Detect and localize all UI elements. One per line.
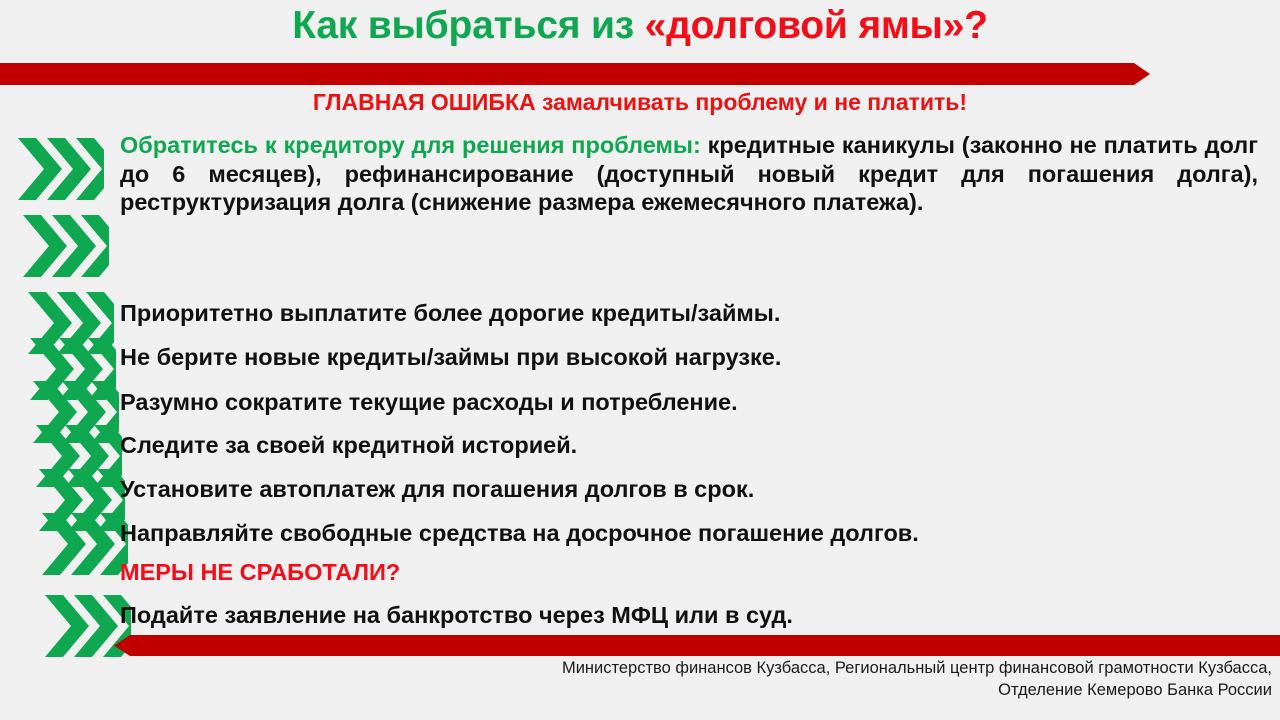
list-item-text: Установите автоплатеж для погашения долг… — [120, 475, 1260, 504]
list-item-text: Не берите новые кредиты/займы при высоко… — [120, 343, 1260, 372]
footer-line-1: Министерство финансов Кузбасса, Регионал… — [312, 657, 1272, 679]
bottom-arrow-banner — [114, 635, 1280, 656]
page-title-green: Как выбраться из — [292, 4, 644, 47]
footer-line-2: Отделение Кемерово Банка России — [312, 679, 1272, 701]
triple-chevron-icon — [42, 513, 128, 575]
list-item-lead: Обратитесь к кредитору для решения пробл… — [120, 132, 701, 158]
triple-chevron-icon — [18, 138, 104, 200]
page-title-red: «долговой ямы»? — [645, 4, 988, 47]
list-item-text: Направляйте свободные средства на досроч… — [120, 519, 1260, 548]
page-title: Как выбраться из «долговой ямы»? — [0, 4, 1280, 48]
top-arrow-banner — [0, 63, 1150, 85]
triple-chevron-icon — [23, 215, 109, 277]
main-error-line: ГЛАВНАЯ ОШИБКА замалчивать проблему и не… — [0, 89, 1280, 116]
list-item-text: МЕРЫ НЕ СРАБОТАЛИ? — [120, 558, 1260, 587]
main-error-emphasis: ГЛАВНАЯ ОШИБКА — [313, 89, 536, 115]
list-item-text: Обратитесь к кредитору для решения пробл… — [120, 131, 1258, 217]
list-item-text: Следите за своей кредитной историей. — [120, 431, 1260, 460]
list-item-text: Подайте заявление на банкротство через М… — [120, 601, 1260, 630]
list-item-text: Приоритетно выплатите более дорогие кред… — [120, 299, 1260, 328]
list-item-text: Разумно сократите текущие расходы и потр… — [120, 388, 1260, 417]
footer-credits: Министерство финансов Кузбасса, Регионал… — [312, 657, 1272, 701]
main-error-rest: замалчивать проблему и не платить! — [536, 89, 967, 115]
